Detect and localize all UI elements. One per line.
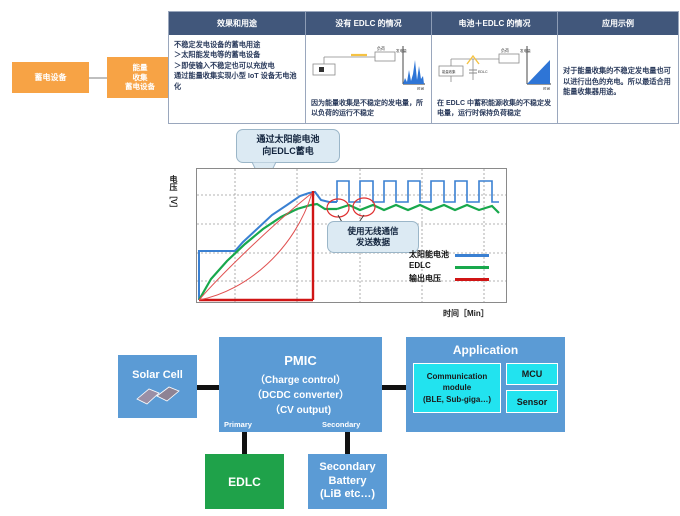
- chart-y-axis-label: 电压［V］: [163, 175, 177, 212]
- table-header-with-edlc: 电池＋EDLC 的情况: [432, 12, 558, 35]
- table-cell-application: 对于能量收集的不稳定发电量也可以进行出色的充电。所以最适合用能量收集器用途。: [558, 35, 678, 124]
- energy-harvest-storage-box: 能量 收集 蓄电设备: [107, 57, 173, 98]
- comparison-table: 效果和用途 没有 EDLC 的情况 电池＋EDLC 的情况 应用示例 不稳定发电…: [168, 11, 679, 124]
- storage-device-label: 蓄电设备: [35, 73, 67, 83]
- connector-solar-pmic: [197, 385, 219, 390]
- solar-panel-icon: [135, 385, 181, 405]
- communication-module-label: Communication module (BLE, Sub-giga…): [423, 371, 491, 405]
- with-edlc-caption: 在 EDLC 中蓄积能源收集的不稳定发电量，运行时保持负荷稳定: [437, 99, 553, 119]
- application-block: Application Communication module (BLE, S…: [406, 337, 565, 432]
- pmic-secondary-label: Secondary: [322, 420, 360, 429]
- sensor-box: Sensor: [506, 390, 558, 413]
- svg-text:时间: 时间: [417, 86, 425, 90]
- pmic-dcdc-converter: （DCDC converter）: [252, 386, 349, 401]
- svg-text:EDLC: EDLC: [478, 70, 488, 74]
- edlc-block: EDLC: [205, 454, 284, 509]
- svg-text:发电量: 发电量: [396, 48, 407, 53]
- energy-harvest-storage-label: 能量 收集 蓄电设备: [125, 63, 155, 91]
- storage-device-box: 蓄电设备: [12, 62, 89, 93]
- no-edlc-schematic-icon: 负荷 发电量 时间: [311, 40, 427, 90]
- table-header-effect: 效果和用途: [169, 12, 306, 35]
- secondary-battery-label: Secondary Battery (LiB etc…): [319, 461, 375, 502]
- legend-label-solar: 太阳能电池: [409, 249, 449, 260]
- pmic-primary-label: Primary: [224, 420, 252, 429]
- table-header-application: 应用示例: [558, 12, 678, 35]
- svg-text:时间: 时间: [543, 86, 551, 90]
- table-header-no-edlc: 没有 EDLC 的情况: [306, 12, 432, 35]
- legend-label-output: 输出电压: [409, 273, 441, 284]
- pmic-charge-control: （Charge control）: [255, 371, 346, 386]
- legend-swatch-edlc: [455, 266, 489, 269]
- pmic-block: PMIC （Charge control） （DCDC converter） （…: [219, 337, 382, 432]
- solar-cell-block: Solar Cell: [118, 355, 197, 418]
- table-body-row: 不稳定发电设备的蓄电用途 ＞太阳能发电等的蓄电设备 ＞即使输入不稳定也可以充放电…: [169, 35, 678, 124]
- application-text: 对于能量收集的不稳定发电量也可以进行出色的充电。所以最适合用能量收集器用途。: [563, 66, 673, 97]
- mcu-label: MCU: [522, 369, 543, 379]
- secondary-battery-block: Secondary Battery (LiB etc…): [308, 454, 387, 509]
- svg-text:负荷: 负荷: [501, 47, 509, 53]
- svg-text:负荷: 负荷: [377, 45, 385, 51]
- chart-x-axis-label: 时间［Min］: [443, 308, 489, 319]
- effect-text: 不稳定发电设备的蓄电用途 ＞太阳能发电等的蓄电设备 ＞即使输入不稳定也可以充放电…: [174, 40, 300, 92]
- callout-solar-charge: 通过太阳能电池 向EDLC蓄电: [236, 129, 340, 163]
- svg-text:发电量: 发电量: [520, 48, 531, 53]
- communication-module-box: Communication module (BLE, Sub-giga…): [413, 363, 501, 413]
- flow-connector-1: [89, 77, 107, 79]
- table-header-row: 效果和用途 没有 EDLC 的情况 电池＋EDLC 的情况 应用示例: [169, 12, 678, 35]
- legend-swatch-output: [455, 278, 489, 281]
- legend-swatch-solar: [455, 254, 489, 257]
- svg-text:能量收集: 能量收集: [442, 69, 456, 74]
- connector-pmic-app: [382, 385, 406, 390]
- application-title: Application: [453, 343, 518, 357]
- sensor-label: Sensor: [517, 397, 548, 407]
- edlc-label: EDLC: [228, 475, 261, 489]
- table-cell-no-edlc: 负荷 发电量 时间 因为能量收集是不稳定的发电量，所以负荷的运行不稳定: [306, 35, 432, 124]
- solar-cell-label: Solar Cell: [132, 369, 183, 381]
- table-cell-effect: 不稳定发电设备的蓄电用途 ＞太阳能发电等的蓄电设备 ＞即使输入不稳定也可以充放电…: [169, 35, 306, 124]
- mcu-box: MCU: [506, 363, 558, 385]
- table-cell-with-edlc: 能量收集 负荷 EDLC 发电量 时间 在 EDLC 中蓄积能源收集的不稳定发电…: [432, 35, 558, 124]
- pmic-cv-output: （CV output): [270, 401, 331, 416]
- with-edlc-schematic-icon: 能量收集 负荷 EDLC 发电量 时间: [437, 40, 553, 90]
- pmic-title: PMIC: [284, 353, 317, 368]
- no-edlc-caption: 因为能量收集是不稳定的发电量，所以负荷的运行不稳定: [311, 99, 427, 119]
- connector-pmic-battery: [345, 432, 350, 454]
- connector-pmic-edlc: [242, 432, 247, 454]
- callout-wireless-send: 使用无线通信 发送数据: [327, 221, 419, 253]
- legend-label-edlc: EDLC: [409, 261, 431, 270]
